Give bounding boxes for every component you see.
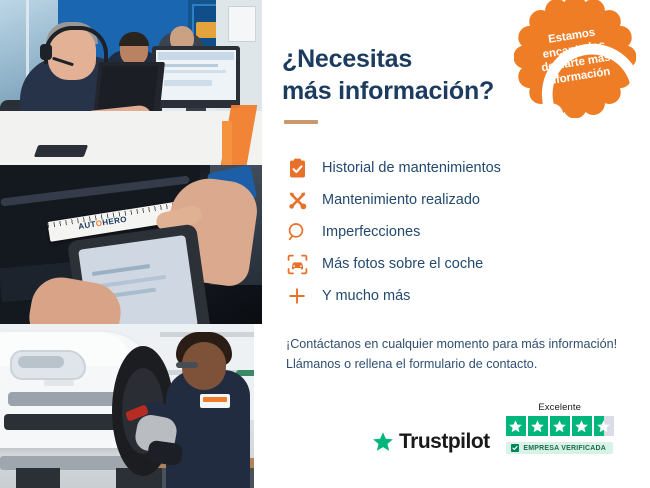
plus-icon — [286, 285, 308, 307]
trustpilot-wordmark: Trustpilot — [399, 430, 490, 454]
feature-item-imperfecciones: Imperfecciones — [286, 216, 624, 248]
star-5-half — [594, 416, 614, 436]
trustpilot-rating: Excelente — [506, 402, 614, 454]
page-title-line-2: más información? — [282, 77, 494, 105]
feature-item-fotos: Más fotos sobre el coche — [286, 248, 624, 280]
mechanic-wheel-photo — [0, 324, 262, 488]
star-4 — [572, 416, 592, 436]
contact-paragraph: ¡Contáctanos en cualquier momento para m… — [286, 334, 624, 375]
star-1 — [506, 416, 526, 436]
verified-check-icon — [511, 444, 519, 452]
page-title: ¿Necesitas más información? — [282, 44, 522, 107]
trustpilot-logo[interactable]: Trustpilot — [372, 430, 490, 454]
page-title-line-1: ¿Necesitas — [282, 45, 412, 73]
title-divider — [284, 120, 318, 124]
feature-item-historial: Historial de mantenimientos — [286, 152, 624, 184]
star-2 — [528, 416, 548, 436]
content-panel: ¿Necesitas más información? — [262, 0, 650, 488]
info-promo-card: AUTOHERO ¿Nece — [0, 0, 650, 488]
car-scan-icon — [286, 253, 308, 275]
feature-label: Más fotos sobre el coche — [322, 257, 483, 272]
feature-list: Historial de mantenimientos M — [286, 152, 624, 312]
contact-paragraph-line-2: Llámanos o rellena el formulario de cont… — [286, 357, 537, 371]
feature-item-mantenimiento: Mantenimiento realizado — [286, 184, 624, 216]
star-3 — [550, 416, 570, 436]
contact-paragraph-line-1: ¡Contáctanos en cualquier momento para m… — [286, 337, 617, 351]
car-inspection-photo: AUTOHERO — [0, 165, 262, 324]
feature-label: Y mucho más — [322, 289, 410, 304]
clipboard-check-icon — [286, 157, 308, 179]
headset-icon — [521, 19, 650, 159]
trustpilot-widget[interactable]: Trustpilot Excelente — [372, 402, 614, 454]
trustpilot-star-icon — [372, 431, 394, 453]
call-center-agents-photo — [0, 0, 262, 165]
verified-company-label: EMPRESA VERIFICADA — [523, 445, 606, 452]
trustpilot-stars — [506, 416, 614, 436]
support-badge: Estamos encantados de darte más informac… — [514, 0, 636, 118]
feature-label: Mantenimiento realizado — [322, 193, 480, 208]
magnifier-icon — [286, 221, 308, 243]
tools-icon — [286, 189, 308, 211]
photo-column: AUTOHERO — [0, 0, 262, 488]
feature-item-mas: Y mucho más — [286, 280, 624, 312]
feature-label: Imperfecciones — [322, 225, 420, 240]
verified-company-badge: EMPRESA VERIFICADA — [506, 442, 613, 454]
trustpilot-rating-label: Excelente — [538, 402, 581, 413]
feature-label: Historial de mantenimientos — [322, 161, 501, 176]
